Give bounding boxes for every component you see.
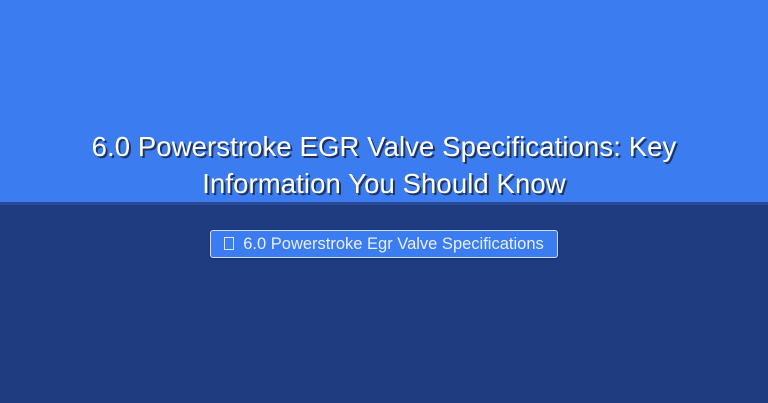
page-root: 6.0 Powerstroke EGR Valve Specifications…	[0, 0, 768, 403]
toc-button-row: 6.0 Powerstroke Egr Valve Specifications	[0, 230, 768, 258]
page-title: 6.0 Powerstroke EGR Valve Specifications…	[0, 128, 768, 202]
toc-button-label: 6.0 Powerstroke Egr Valve Specifications	[243, 234, 544, 254]
missing-glyph-box-icon	[224, 237, 234, 250]
table-of-contents-button[interactable]: 6.0 Powerstroke Egr Valve Specifications	[210, 230, 558, 258]
